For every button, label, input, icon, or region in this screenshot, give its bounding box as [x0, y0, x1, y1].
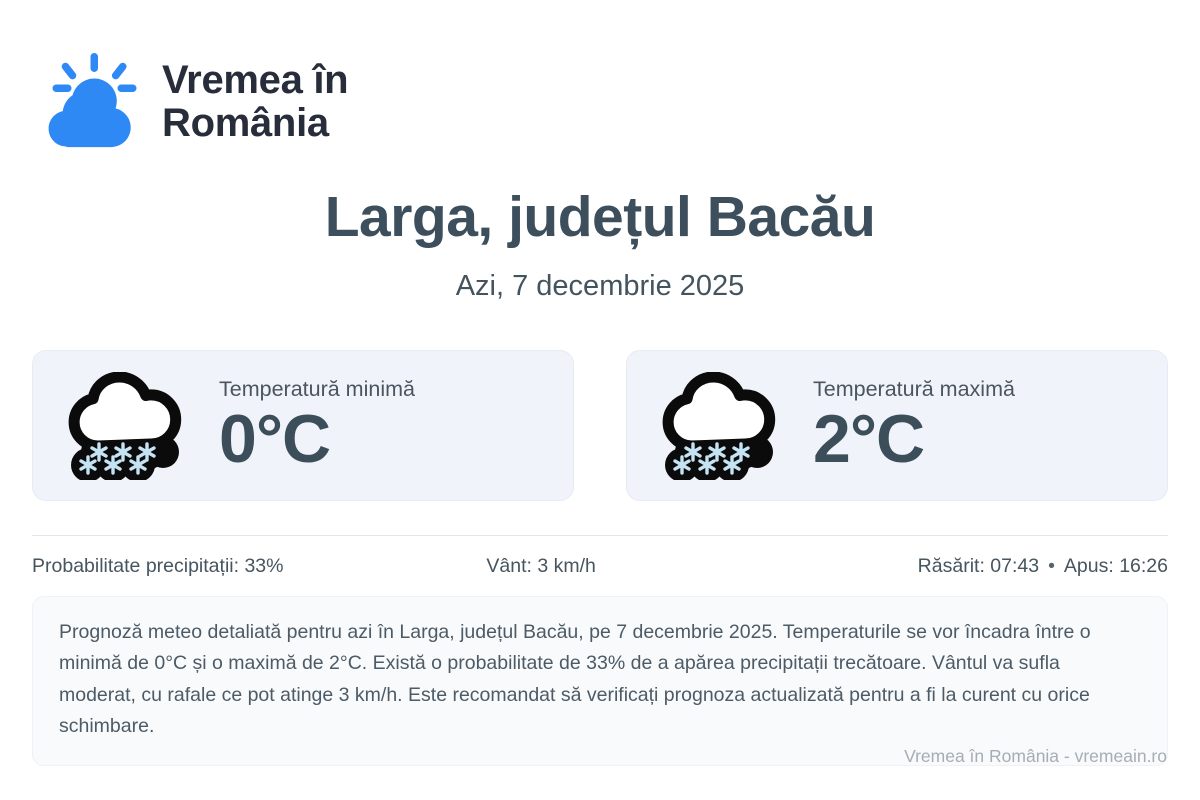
brand-name: Vremea în România [162, 59, 348, 145]
stat-sun-times: Răsărit: 07:43•Apus: 16:26 [782, 555, 1168, 578]
forecast-description-box: Prognoză meteo detaliată pentru azi în L… [32, 596, 1168, 766]
card-value: 2°C [813, 405, 1015, 473]
temperature-cards: Temperatură minimă 0°C [32, 350, 1168, 501]
stat-sunset: Apus: 16:26 [1064, 555, 1168, 577]
stat-precipitation: Probabilitate precipitații: 33% [32, 555, 486, 578]
weather-stats: Probabilitate precipitații: 33% Vânt: 3 … [32, 536, 1168, 578]
site-header: Vremea în România [0, 0, 1200, 154]
card-temperature-max: Temperatură maximă 2°C [626, 350, 1168, 501]
card-temperature-min: Temperatură minimă 0°C [32, 350, 574, 501]
stat-separator: • [1039, 555, 1064, 578]
page-date: Azi, 7 decembrie 2025 [0, 270, 1200, 303]
sun-behind-cloud-icon [36, 50, 144, 154]
stat-sunrise: Răsărit: 07:43 [918, 555, 1039, 577]
card-label: Temperatură minimă [219, 378, 415, 402]
snow-cloud-icon [63, 372, 195, 480]
title-block: Larga, județul Bacău Azi, 7 decembrie 20… [0, 186, 1200, 303]
card-label: Temperatură maximă [813, 378, 1015, 402]
page-title: Larga, județul Bacău [0, 186, 1200, 250]
card-texts: Temperatură minimă 0°C [219, 378, 415, 474]
weather-page: Vremea în România Larga, județul Bacău A… [0, 0, 1200, 800]
snow-cloud-icon [657, 372, 789, 480]
stat-wind: Vânt: 3 km/h [486, 555, 781, 578]
card-value: 0°C [219, 405, 415, 473]
card-texts: Temperatură maximă 2°C [813, 378, 1015, 474]
site-footer: Vremea în România - vremeain.ro [904, 746, 1167, 767]
forecast-description-text: Prognoză meteo detaliată pentru azi în L… [59, 617, 1141, 743]
